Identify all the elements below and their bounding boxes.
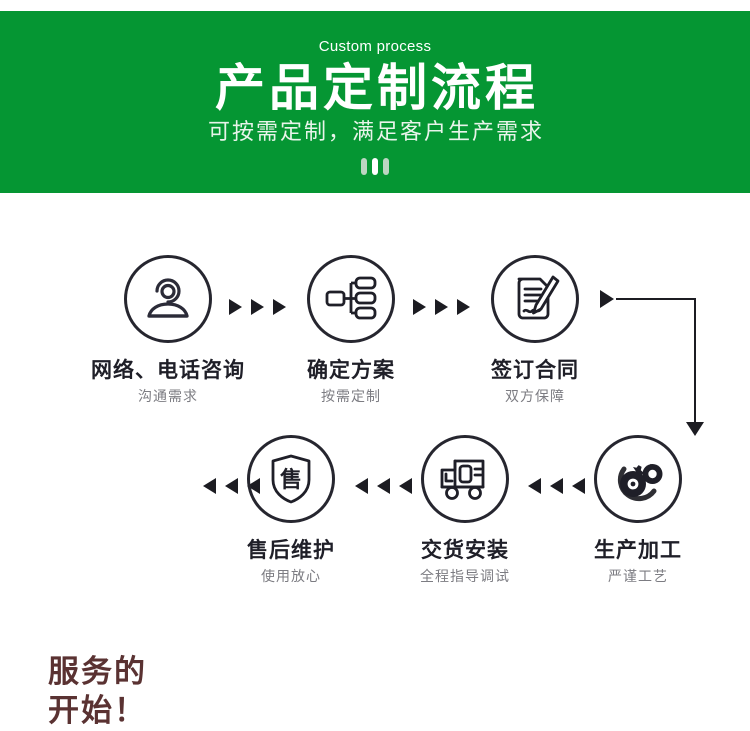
triangle-right-icon <box>413 299 426 315</box>
triangle-left-icon <box>355 478 368 494</box>
divider-dot-right <box>383 158 389 175</box>
triangle-right-icon <box>251 299 264 315</box>
flow-step-contract[interactable]: 签订合同 双方保障 <box>450 255 620 404</box>
flow-step-title: 交货安装 <box>380 539 550 562</box>
flow-step-title: 售后维护 <box>206 539 376 562</box>
process-flow-diagram: 网络、电话咨询 沟通需求 确定方案 按需定制 <box>0 193 750 634</box>
flow-step-subtitle: 双方保障 <box>450 389 620 404</box>
flow-step-title: 网络、电话咨询 <box>83 359 253 382</box>
banner-eyebrow: Custom process <box>319 39 432 54</box>
flow-step-aftersales[interactable]: 售 售后维护 使用放心 <box>206 435 376 584</box>
flow-step-subtitle: 严谨工艺 <box>553 569 723 584</box>
divider-dot-left <box>361 158 367 175</box>
divider-dot-middle <box>372 158 378 175</box>
shield-service-icon: 售 <box>247 435 335 523</box>
flow-step-title: 生产加工 <box>553 539 723 562</box>
triangle-down-icon <box>686 422 704 436</box>
triangle-right-icon <box>600 290 614 308</box>
page-header-banner: Custom process 产品定制流程 可按需定制，满足客户生产需求 <box>0 11 750 193</box>
flow-step-title: 确定方案 <box>266 359 436 382</box>
connector-vertical-line <box>694 298 696 424</box>
page-title: 产品定制流程 <box>211 63 539 114</box>
contract-pen-icon <box>491 255 579 343</box>
triangle-right-icon <box>435 299 448 315</box>
flow-step-production[interactable]: 生产加工 严谨工艺 <box>553 435 723 584</box>
flow-step-delivery[interactable]: 交货安装 全程指导调试 <box>380 435 550 584</box>
flow-step-consultation[interactable]: 网络、电话咨询 沟通需求 <box>83 255 253 404</box>
flow-step-subtitle: 沟通需求 <box>83 389 253 404</box>
flow-step-subtitle: 使用放心 <box>206 569 376 584</box>
service-start-callout: 服务的 开始！ <box>48 653 147 731</box>
banner-subtitle: 可按需定制，满足客户生产需求 <box>206 121 544 143</box>
flow-step-subtitle: 按需定制 <box>266 389 436 404</box>
connector-horizontal-line <box>616 298 696 300</box>
svg-text:售: 售 <box>280 467 302 492</box>
flow-step-subtitle: 全程指导调试 <box>380 569 550 584</box>
gears-icon <box>594 435 682 523</box>
flow-step-plan[interactable]: 确定方案 按需定制 <box>266 255 436 404</box>
triangle-left-icon <box>528 478 541 494</box>
flow-step-title: 签订合同 <box>450 359 620 382</box>
user-headset-icon <box>124 255 212 343</box>
flowchart-icon <box>307 255 395 343</box>
banner-divider-dots <box>361 158 389 175</box>
delivery-truck-icon <box>421 435 509 523</box>
triangle-right-icon <box>229 299 242 315</box>
